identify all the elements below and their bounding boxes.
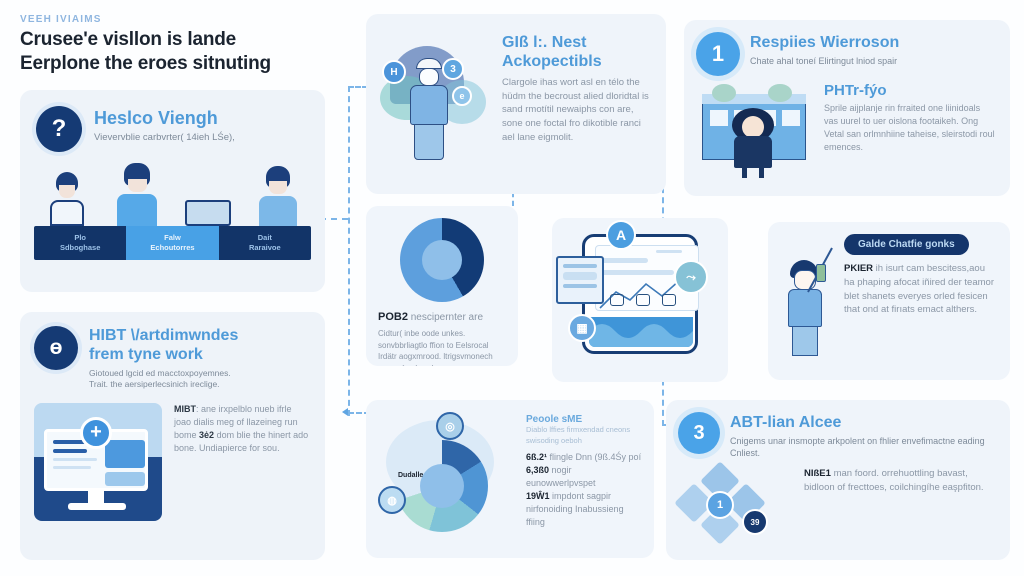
hibt-title: HIBT \/artdimwndes frem tyne work (89, 327, 238, 365)
segment-label: Dait Raraivoe (219, 226, 311, 260)
screen-line (53, 449, 87, 453)
peoole-row3-value: 19Ŵ1 (526, 491, 550, 501)
card-step1[interactable]: 1 Respiies Wierroson Chate ahal toneí El… (684, 20, 1010, 196)
step3-body: NIßE1 man foord. orrehuottling bavast, b… (804, 467, 996, 541)
torso-icon (50, 200, 84, 226)
pie-chart-illustration: ◎ ◍ Dudalle (376, 410, 516, 546)
person-body (734, 136, 772, 168)
donut-chart (366, 206, 518, 302)
badge-letter-a-icon: A (606, 220, 636, 250)
person-leg (742, 166, 747, 178)
pie-inline-label: Dudalle (398, 472, 423, 479)
pob2-value: POB2 (378, 311, 408, 323)
segmented-label-bar: Plo Sdboghase Falw Echoutorres Dait Rara… (34, 226, 311, 260)
peoole-row: 19Ŵ1 impdont sagpir nirfonoiding Inabuss… (526, 490, 642, 529)
doc-line (563, 264, 597, 268)
person-building-illustration (696, 82, 814, 178)
step3-subtitle: Cnigems unar insmopte arkpolent on fhlie… (730, 435, 996, 459)
step3-body-rest: man foord. orrehuottling bavast, bidloon… (804, 468, 984, 493)
guide-body: PKIER ih isurt cam bescitess,aou ha phap… (844, 262, 998, 317)
face-icon (269, 181, 287, 194)
step3-title: ABT-lian Alcee (730, 414, 996, 433)
person-figure (34, 172, 100, 226)
device-icon (816, 264, 826, 282)
laptop-icon (185, 200, 231, 226)
secondary-node-icon: 39 (742, 509, 768, 535)
tree-icon (768, 84, 792, 102)
peoole-title: Peoole sME (526, 414, 642, 425)
person-figure (104, 163, 170, 226)
card-guide[interactable]: Galde Chatfie gonks PKIER ih isurt cam b… (768, 222, 1010, 380)
torso-icon (259, 196, 297, 226)
step-3-badge: 3 (678, 412, 720, 454)
step3-body-bold: NIßE1 (804, 468, 831, 479)
worker-legs (414, 124, 444, 160)
pointer-arm-icon (806, 240, 866, 300)
building-window (782, 110, 800, 126)
monitor-base (68, 503, 126, 510)
worker-body (410, 85, 448, 125)
step1-sub-heading: PHTr-fýo (824, 82, 996, 100)
plus-icon: + (80, 417, 112, 449)
person-legs (792, 326, 818, 356)
peoole-row1-value: 6ß.2¹ (526, 452, 547, 462)
pob2-label-rest: nescipernter are (408, 312, 483, 323)
hibt-body-bold-2: 3ė2 (199, 430, 214, 440)
pie-node-icon: ◍ (378, 486, 406, 514)
pie-node-icon: ◎ (436, 412, 464, 440)
screen-line (53, 458, 97, 461)
worker-head (419, 68, 439, 86)
badge-chart-icon: ⤳ (674, 260, 708, 294)
screen-line (602, 258, 648, 263)
page-title: Crusee'e visllon is lande Eerplone the e… (20, 28, 350, 77)
doc-line (563, 284, 597, 288)
wave-icon (589, 317, 693, 347)
connector-left-vertical (348, 86, 350, 416)
icon-bubble: 3 (442, 58, 464, 80)
diamond-cluster-illustration: 1 39 (680, 467, 792, 541)
lock-icon: ɵ (34, 326, 78, 370)
hibt-subtitle: Giotoued lgcid ed macctoxpoyemnes. Trait… (89, 368, 238, 391)
side-document-icon (556, 256, 604, 304)
pob2-body: Cidtur( inbe oode unkes. sonvbbrliagtlo … (378, 328, 506, 366)
overview-subtitle: Vievervblie carbvrter( 14ieh LŚe), (94, 132, 235, 145)
tablet-dashboard-illustration: A ⤳ ▦ (552, 218, 728, 382)
card-peoole[interactable]: ◎ ◍ Dudalle Peoole sME Diablo lffies fir… (366, 400, 654, 558)
tree-icon (712, 84, 736, 102)
doc-line (563, 272, 597, 280)
card-device[interactable]: A ⤳ ▦ (552, 218, 728, 382)
person-leg (759, 166, 764, 178)
connector-arrow-bottom-left (342, 408, 348, 416)
desktop-monitor-illustration: + (34, 403, 162, 521)
torso-icon (117, 194, 157, 226)
card-hibt[interactable]: ɵ HIBT \/artdimwndes frem tyne work Giot… (20, 312, 325, 560)
step-1-badge: 1 (696, 32, 740, 76)
peoole-row: 6ß.2¹ flingle Dnn (9ß.4Śy poí (526, 451, 642, 464)
peoole-row2-value: 6,3ß0 (526, 465, 549, 475)
pie-chart (396, 440, 488, 532)
step1-title: Respiies Wierroson (750, 34, 996, 53)
person-figure (245, 166, 311, 226)
face-icon (128, 179, 147, 192)
person-pointing-illustration (776, 234, 838, 358)
peoole-sub: Diablo lffies firmxendad cneons swisodin… (526, 425, 642, 447)
gib-title: GIß l:. Nest Ackopectibls (502, 34, 652, 72)
screen-line (53, 466, 91, 469)
peoole-row1-label: flingle Dnn (9ß.4Śy poí (547, 452, 641, 462)
person-figure-with-laptop (175, 200, 241, 226)
gib-body: Clargole ihas wort asl en télo the hüdm … (502, 76, 652, 145)
header-eyebrow: VEEH IVIAIMS (20, 14, 350, 25)
segment-label: Falw Echoutorres (126, 226, 218, 260)
overview-title: Heslco Viengh (94, 108, 235, 129)
face-icon (59, 185, 75, 198)
question-mark-icon: ? (36, 106, 82, 152)
chart-marker (636, 294, 650, 306)
worker-illustration: H 3 e (376, 28, 494, 172)
hibt-body-bold: MIBT (174, 404, 196, 414)
peoole-row: 6,3ß0 nogir eunowwerlpvspet (526, 464, 642, 490)
connector-left-top-arm (348, 86, 368, 88)
connector-center-vertical (512, 192, 514, 206)
page-header: VEEH IVIAIMS Crusee'e visllon is lande E… (20, 14, 350, 77)
screen-line (656, 250, 682, 253)
hibt-body-text: MIBT: ane irxpelblo nueb ifrle joao dial… (174, 403, 311, 521)
center-node-icon: 1 (706, 491, 734, 519)
card-gib[interactable]: H 3 e GIß l:. Nest Ackopectibls Clargole… (366, 14, 666, 194)
card-step3[interactable]: 3 ABT-lian Alcee Cnigems unar insmopte a… (666, 400, 1010, 560)
person-face (742, 116, 764, 138)
people-illustration (20, 164, 325, 226)
chart-marker (662, 294, 676, 306)
headline-line-1: Crusee'e visllon is lande (20, 28, 350, 52)
pob2-label: POB2 nescipernter are (378, 310, 506, 326)
badge-grid-icon: ▦ (568, 314, 596, 342)
step1-subtitle: Chate ahal toneí Elirtingut lniod spair (750, 55, 996, 67)
icon-bubble: H (382, 60, 406, 84)
headline-line-2: Eerplone the eroes sitnuting (20, 52, 350, 76)
segment-label: Plo Sdboghase (34, 226, 126, 260)
screen-panel (105, 472, 145, 486)
step1-body: Sprile aijplanje rin frraited one liinid… (824, 102, 996, 154)
card-pob2[interactable]: POB2 nescipernter are Cidtur( inbe oode … (366, 206, 518, 366)
screen-panel (105, 440, 145, 468)
building-window (710, 110, 728, 126)
tablet-wave-area (589, 317, 693, 347)
card-overview[interactable]: ? Heslco Viengh Vievervblie carbvrter( 1… (20, 90, 325, 292)
chart-marker (610, 294, 624, 306)
icon-bubble: e (452, 86, 472, 106)
